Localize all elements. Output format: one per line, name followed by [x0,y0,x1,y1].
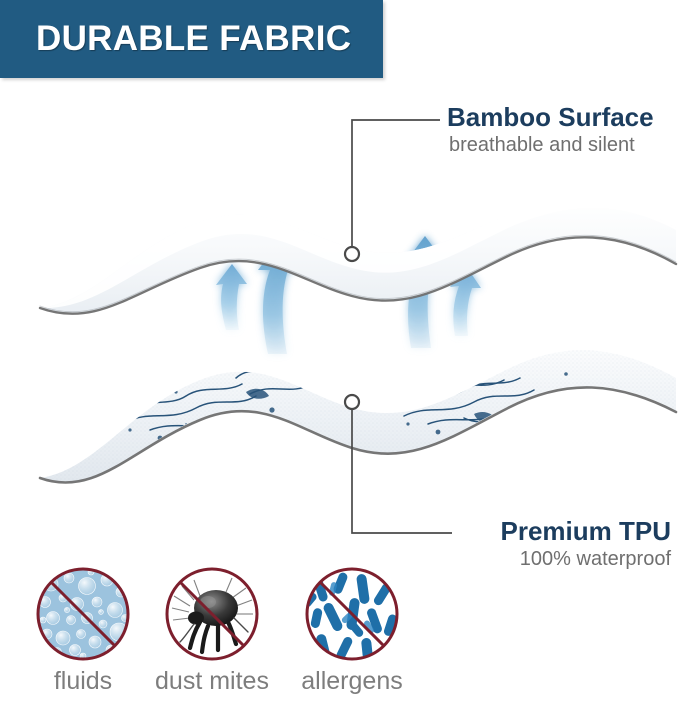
water-droplets-icon [31,562,135,666]
dust-mite-icon [160,562,264,666]
bacteria-icon [300,562,404,666]
callout-bottom-headline: Premium TPU [501,517,672,545]
callout-bamboo-surface: Bamboo Surface breathable and silent [447,103,654,157]
feature-allergens-caption: allergens [277,668,427,696]
feature-allergens: allergens [277,556,427,696]
feature-dust-mites: dust mites [137,556,287,696]
callout-top-subline: breathable and silent [447,133,654,157]
header-banner: DURABLE FABRIC [0,0,383,78]
protection-feature-list: fluids [0,556,679,705]
feature-dust-mites-caption: dust mites [137,668,287,696]
tpu-membrane-wave [0,325,679,509]
callout-top-headline: Bamboo Surface [447,103,654,131]
feature-fluids-caption: fluids [8,668,158,696]
page-title: DURABLE FABRIC [0,19,351,59]
feature-fluids: fluids [8,556,158,696]
